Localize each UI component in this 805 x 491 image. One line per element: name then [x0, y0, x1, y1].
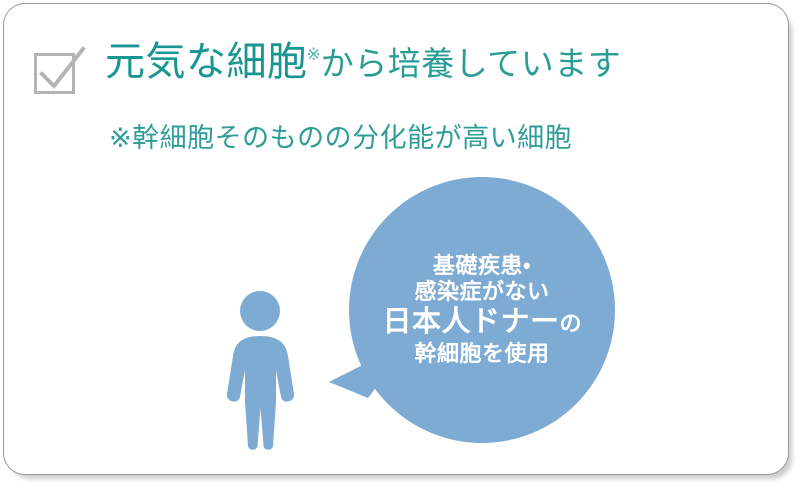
bubble-emphasis-text: 日本人ドナー: [382, 306, 559, 338]
speech-bubble-circle: 基礎疾患• 感染症がない 日本人ドナーの 幹細胞を使用: [349, 177, 615, 443]
bubble-line-4: 幹細胞を使用: [414, 341, 549, 367]
bubble-line-1: 基礎疾患•: [433, 253, 531, 279]
checkbox-checked-icon: [31, 44, 87, 100]
person-pictogram-icon: [224, 290, 296, 450]
header-row: 元気な細胞※から培養しています: [31, 38, 621, 102]
headline-rest-text: から培養しています: [321, 45, 622, 82]
bubble-line-2: 感染症がない: [414, 279, 549, 305]
headline-footnote-mark: ※: [307, 45, 321, 64]
page-title: 元気な細胞※から培養しています: [105, 38, 621, 82]
subtitle-footnote: ※幹細胞そのものの分化能が高い細胞: [109, 116, 572, 155]
bubble-line-3: 日本人ドナーの: [382, 306, 581, 340]
bubble-emphasis-suffix: の: [560, 311, 582, 336]
headline-strong-text: 元気な細胞: [105, 40, 308, 84]
info-card: 元気な細胞※から培養しています ※幹細胞そのものの分化能が高い細胞 基礎疾患• …: [3, 3, 789, 475]
